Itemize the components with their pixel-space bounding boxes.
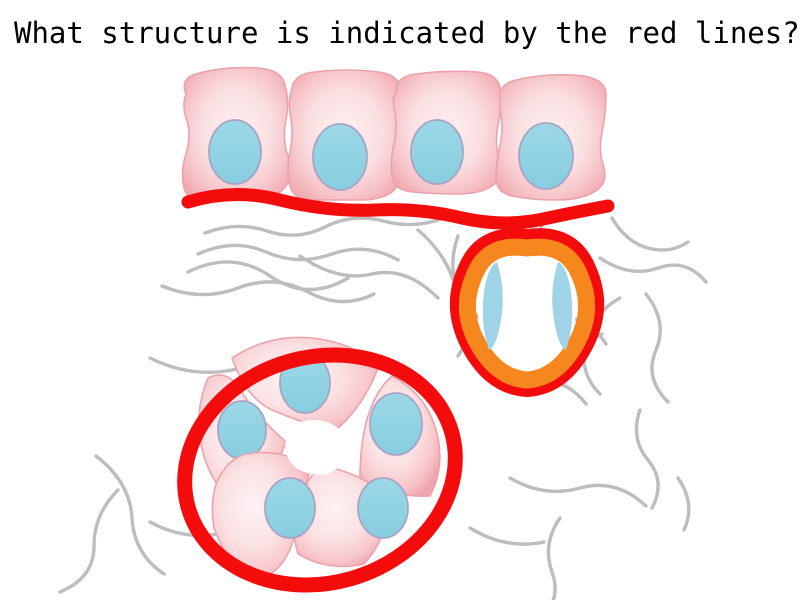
nucleus [209,120,261,184]
epithelial-cell [182,68,290,201]
nucleus [411,120,463,184]
slide-canvas: What structure is indicated by the red l… [0,0,800,600]
epithelial-cell [391,71,501,194]
histology-diagram [0,58,800,600]
diagram-svg [0,58,800,600]
nucleus [265,478,315,538]
nucleus [370,393,422,455]
gland-acinus [157,324,483,600]
nucleus [358,478,408,538]
nucleus [313,124,367,190]
nucleus [519,123,573,189]
capillary-cross-section [457,235,597,390]
epithelial-cell-sheet [182,68,606,201]
page-title: What structure is indicated by the red l… [14,16,794,50]
epithelial-cell [496,75,606,200]
nucleus [218,401,266,459]
epithelial-cell [288,70,401,200]
